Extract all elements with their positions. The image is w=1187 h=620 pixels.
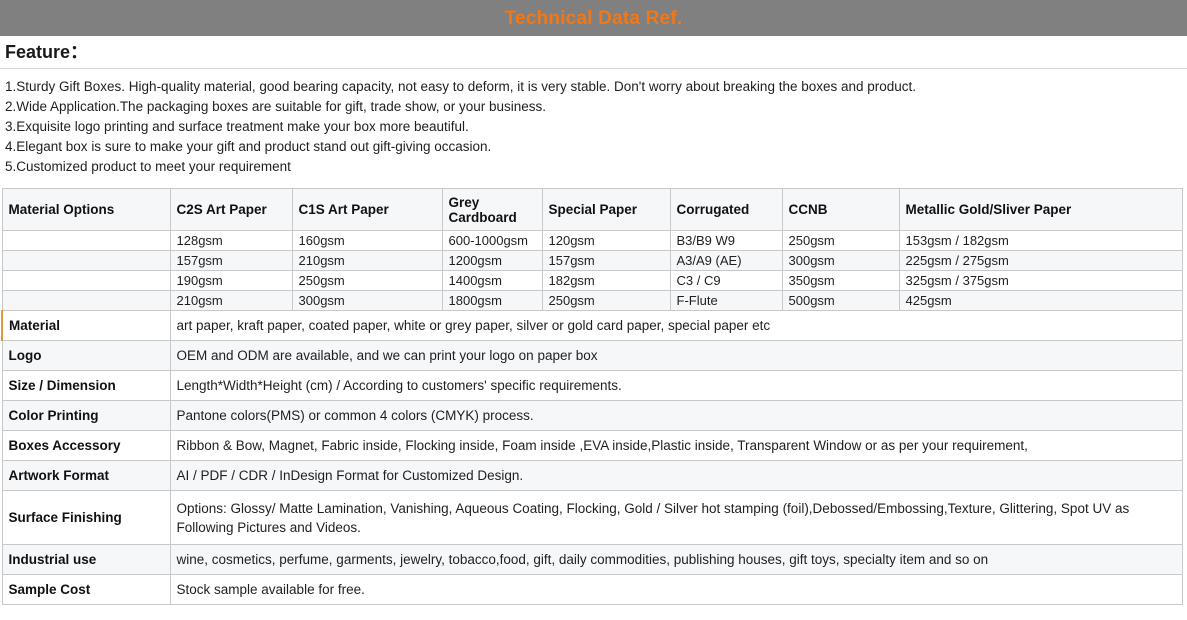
feature-list: 1.Sturdy Gift Boxes. High-quality materi…: [0, 69, 1187, 183]
column-header-c2s-art-paper: C2S Art Paper: [170, 189, 292, 231]
column-header-metallic-gold-sliver-paper: Metallic Gold/Sliver Paper: [899, 189, 1182, 231]
cell-ccnb: 300gsm: [782, 251, 899, 271]
spec-value-surface-finishing: Options: Glossy/ Matte Lamination, Vanis…: [170, 491, 1182, 545]
column-header-material-options: Material Options: [2, 189, 170, 231]
cell-ccnb: 250gsm: [782, 231, 899, 251]
spec-value-size-dimension: Length*Width*Height (cm) / According to …: [170, 371, 1182, 401]
cell-special-paper: 182gsm: [542, 271, 670, 291]
page-title: Technical Data Ref.: [505, 9, 683, 28]
feature-line: 1.Sturdy Gift Boxes. High-quality materi…: [5, 77, 1182, 97]
spec-value-artwork-format: AI / PDF / CDR / InDesign Format for Cus…: [170, 461, 1182, 491]
feature-line: 4.Elegant box is sure to make your gift …: [5, 137, 1182, 157]
spec-label-industrial-use: Industrial use: [2, 545, 170, 575]
technical-data-page: Technical Data Ref. Feature： 1.Sturdy Gi…: [0, 0, 1187, 620]
spec-label-boxes-accessory: Boxes Accessory: [2, 431, 170, 461]
cell-metallic: 425gsm: [899, 291, 1182, 311]
cell-corrugated: B3/B9 W9: [670, 231, 782, 251]
column-header-special-paper: Special Paper: [542, 189, 670, 231]
cell-grey-cardboard: 1400gsm: [442, 271, 542, 291]
table-row: 190gsm 250gsm 1400gsm 182gsm C3 / C9 350…: [2, 271, 1182, 291]
cell-grey-cardboard: 1200gsm: [442, 251, 542, 271]
cell-c2s: 157gsm: [170, 251, 292, 271]
technical-data-table: Material Options C2S Art Paper C1S Art P…: [1, 188, 1183, 605]
spec-value-material: art paper, kraft paper, coated paper, wh…: [170, 311, 1182, 341]
cell-special-paper: 250gsm: [542, 291, 670, 311]
cell-grey-cardboard: 1800gsm: [442, 291, 542, 311]
cell-metallic: 153gsm / 182gsm: [899, 231, 1182, 251]
cell-special-paper: 157gsm: [542, 251, 670, 271]
cell-ccnb: 350gsm: [782, 271, 899, 291]
feature-line: 5.Customized product to meet your requir…: [5, 157, 1182, 177]
table-header-row: Material Options C2S Art Paper C1S Art P…: [2, 189, 1182, 231]
cell-material-options: [2, 231, 170, 251]
feature-line: 2.Wide Application.The packaging boxes a…: [5, 97, 1182, 117]
spec-row-logo: Logo OEM and ODM are available, and we c…: [2, 341, 1182, 371]
table-body: 128gsm 160gsm 600-1000gsm 120gsm B3/B9 W…: [2, 231, 1182, 605]
spec-row-surface-finishing: Surface Finishing Options: Glossy/ Matte…: [2, 491, 1182, 545]
cell-material-options: [2, 251, 170, 271]
table-row: 157gsm 210gsm 1200gsm 157gsm A3/A9 (AE) …: [2, 251, 1182, 271]
feature-heading-row: Feature：: [0, 36, 1187, 69]
cell-corrugated: C3 / C9: [670, 271, 782, 291]
cell-corrugated: A3/A9 (AE): [670, 251, 782, 271]
spec-row-material: Material art paper, kraft paper, coated …: [2, 311, 1182, 341]
cell-c2s: 190gsm: [170, 271, 292, 291]
spec-value-logo: OEM and ODM are available, and we can pr…: [170, 341, 1182, 371]
spec-label-surface-finishing: Surface Finishing: [2, 491, 170, 545]
spec-label-material: Material: [2, 311, 170, 341]
spec-label-color-printing: Color Printing: [2, 401, 170, 431]
column-header-corrugated: Corrugated: [670, 189, 782, 231]
spec-value-color-printing: Pantone colors(PMS) or common 4 colors (…: [170, 401, 1182, 431]
spec-value-sample-cost: Stock sample available for free.: [170, 575, 1182, 605]
column-header-c1s-art-paper: C1S Art Paper: [292, 189, 442, 231]
spec-row-sample-cost: Sample Cost Stock sample available for f…: [2, 575, 1182, 605]
spec-row-industrial-use: Industrial use wine, cosmetics, perfume,…: [2, 545, 1182, 575]
cell-metallic: 225gsm / 275gsm: [899, 251, 1182, 271]
spec-row-boxes-accessory: Boxes Accessory Ribbon & Bow, Magnet, Fa…: [2, 431, 1182, 461]
spec-row-color-printing: Color Printing Pantone colors(PMS) or co…: [2, 401, 1182, 431]
cell-c1s: 300gsm: [292, 291, 442, 311]
cell-c2s: 128gsm: [170, 231, 292, 251]
cell-material-options: [2, 291, 170, 311]
spec-label-logo: Logo: [2, 341, 170, 371]
cell-material-options: [2, 271, 170, 291]
spec-label-size-dimension: Size / Dimension: [2, 371, 170, 401]
table-row: 210gsm 300gsm 1800gsm 250gsm F-Flute 500…: [2, 291, 1182, 311]
cell-ccnb: 500gsm: [782, 291, 899, 311]
cell-c1s: 210gsm: [292, 251, 442, 271]
cell-c2s: 210gsm: [170, 291, 292, 311]
spec-label-artwork-format: Artwork Format: [2, 461, 170, 491]
column-header-grey-cardboard: Grey Cardboard: [442, 189, 542, 231]
cell-special-paper: 120gsm: [542, 231, 670, 251]
spec-label-sample-cost: Sample Cost: [2, 575, 170, 605]
spec-row-artwork-format: Artwork Format AI / PDF / CDR / InDesign…: [2, 461, 1182, 491]
spec-value-industrial-use: wine, cosmetics, perfume, garments, jewe…: [170, 545, 1182, 575]
cell-corrugated: F-Flute: [670, 291, 782, 311]
table-row: 128gsm 160gsm 600-1000gsm 120gsm B3/B9 W…: [2, 231, 1182, 251]
cell-c1s: 250gsm: [292, 271, 442, 291]
column-header-ccnb: CCNB: [782, 189, 899, 231]
cell-c1s: 160gsm: [292, 231, 442, 251]
spec-value-boxes-accessory: Ribbon & Bow, Magnet, Fabric inside, Flo…: [170, 431, 1182, 461]
feature-line: 3.Exquisite logo printing and surface tr…: [5, 117, 1182, 137]
table-header: Material Options C2S Art Paper C1S Art P…: [2, 189, 1182, 231]
title-bar: Technical Data Ref.: [0, 0, 1187, 36]
cell-metallic: 325gsm / 375gsm: [899, 271, 1182, 291]
feature-heading: Feature：: [5, 43, 88, 61]
cell-grey-cardboard: 600-1000gsm: [442, 231, 542, 251]
spec-row-size-dimension: Size / Dimension Length*Width*Height (cm…: [2, 371, 1182, 401]
